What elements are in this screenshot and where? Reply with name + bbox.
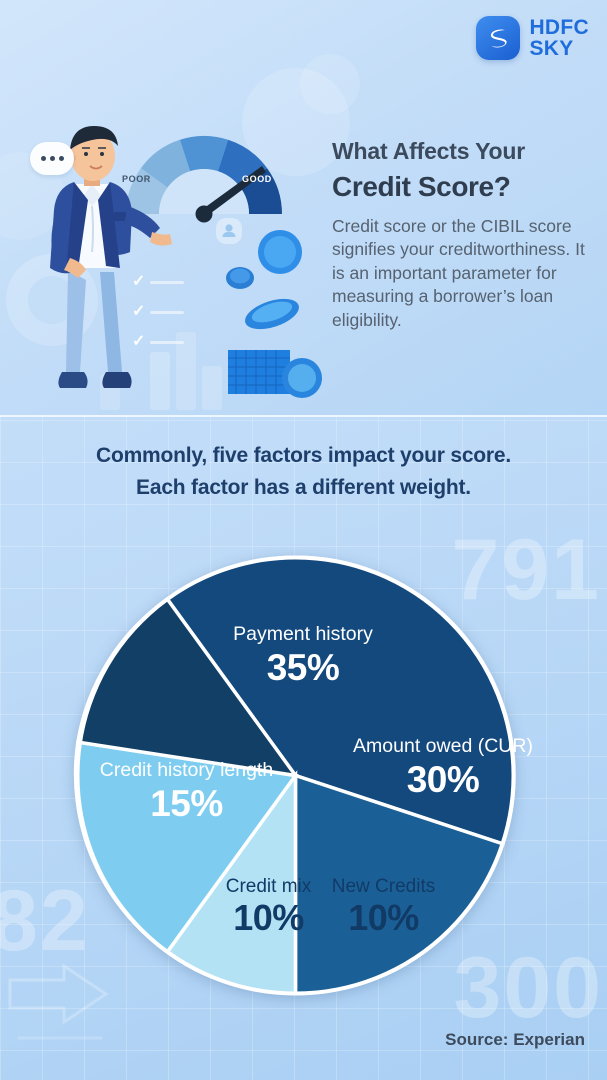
speech-bubble-icon	[30, 142, 74, 175]
coins-illustration	[222, 222, 332, 412]
businessman-illustration	[22, 120, 172, 415]
gauge-label-good: GOOD	[242, 174, 272, 184]
hdfc-sky-logo-icon	[476, 16, 520, 60]
check-icon-1: ✓	[132, 274, 145, 290]
source-attribution: Source: Experian	[445, 1030, 585, 1050]
brand-name-line2: SKY	[529, 38, 589, 59]
check-icon-3: ✓	[132, 334, 145, 350]
checklist-decor: ✓ ✓ ✓	[132, 274, 184, 364]
pie-chart-svg	[68, 548, 523, 1003]
subtitle-line-1: Commonly, five factors impact your score…	[0, 440, 607, 472]
header-band: HDFC SKY	[0, 0, 607, 417]
credit-score-pie-chart: Payment history 35% Amount owed (CUR) 30…	[68, 548, 523, 1003]
check-icon-2: ✓	[132, 304, 145, 320]
infographic-page: 791 82 300 HDFC	[0, 0, 607, 1080]
header-divider	[0, 415, 607, 417]
headline-body-text: Credit score or the CIBIL score signifie…	[332, 215, 594, 332]
page-title: Credit Score?	[332, 171, 594, 203]
subtitle-line-2: Each factor has a different weight.	[0, 472, 607, 504]
brand-name-line1: HDFC	[529, 17, 589, 38]
brand-logo: HDFC SKY	[476, 16, 589, 60]
headline-block: What Affects Your Credit Score? Credit s…	[332, 138, 594, 332]
section-subtitle: Commonly, five factors impact your score…	[0, 440, 607, 503]
headline-line-1: What Affects Your	[332, 138, 594, 165]
